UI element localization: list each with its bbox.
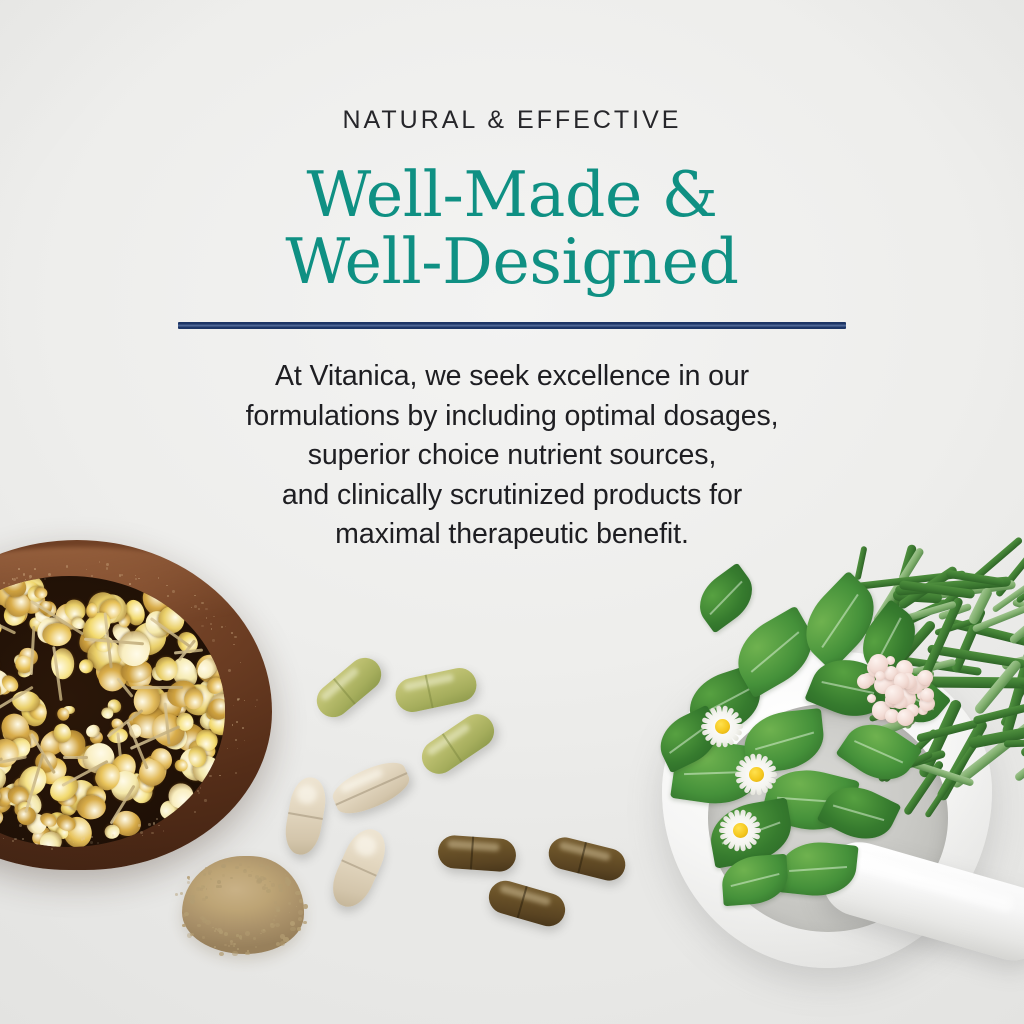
bowl-speckle	[255, 706, 256, 707]
body-paragraph: At Vitanica, we seek excellence in our f…	[0, 357, 1024, 555]
supplement-pills-image	[290, 665, 662, 955]
bowl-speckle	[194, 605, 197, 608]
powder-grain	[248, 874, 251, 877]
body-line: maximal therapeutic benefit.	[0, 515, 1024, 555]
brown-capsule	[485, 877, 569, 930]
bowl-speckle	[198, 792, 200, 794]
beige-tablet	[325, 823, 393, 913]
powder-grain	[203, 886, 204, 887]
bowl-speckle	[91, 575, 93, 577]
powder-grain	[280, 941, 285, 945]
brown-capsule	[545, 834, 628, 884]
powder-grain	[247, 866, 249, 868]
chamomile-floret	[158, 607, 184, 635]
green-capsule	[310, 651, 388, 724]
bowl-speckle	[140, 831, 143, 834]
powder-grain	[228, 858, 232, 861]
bowl-speckle	[51, 848, 54, 851]
bowl-speckle	[48, 573, 51, 576]
chamomile-stem	[63, 756, 88, 759]
body-line: superior choice nutrient sources,	[0, 436, 1024, 476]
bowl-speckle	[88, 832, 90, 834]
powder-grain	[271, 883, 275, 886]
bowl-speckle	[240, 662, 241, 663]
bowl-speckle	[91, 836, 93, 838]
bowl-speckle	[231, 632, 232, 633]
bowl-speckle	[237, 698, 240, 701]
beige-tablet	[328, 755, 415, 821]
powder-grain	[280, 934, 285, 939]
powder-grain	[214, 930, 216, 932]
bowl-speckle	[244, 700, 245, 701]
bowl-speckle	[153, 822, 155, 824]
powder-grain	[202, 898, 206, 902]
bowl-speckle	[212, 639, 215, 642]
bowl-speckle	[107, 835, 109, 837]
powder-grain	[275, 906, 279, 910]
bowl-speckle	[234, 636, 237, 639]
bowl-speckle	[201, 625, 203, 627]
bowl-speckle	[235, 739, 237, 741]
pink-floret	[885, 685, 903, 703]
ceramic-bowl	[0, 540, 272, 870]
bowl-speckle	[209, 775, 212, 778]
powder-grain	[218, 885, 222, 888]
chamomile-bowl-image	[0, 540, 272, 870]
daisy-center	[715, 719, 730, 734]
daisy-flower	[734, 752, 778, 796]
bowl-speckle	[233, 705, 234, 706]
powder-grain	[175, 893, 179, 896]
powder-grain	[219, 952, 224, 956]
powder-grain	[210, 878, 213, 880]
bowl-speckle	[36, 843, 37, 844]
bowl-speckle	[129, 583, 131, 585]
powder-grain	[247, 950, 248, 951]
bowl-speckle	[3, 838, 4, 839]
mortar-and-pestle-image	[648, 556, 1024, 1024]
powder-grain	[264, 878, 267, 880]
powder-grain	[187, 881, 190, 884]
pink-flower-cluster	[856, 648, 940, 728]
daisy-flower	[700, 704, 744, 748]
bowl-speckle	[201, 602, 204, 605]
powder-grain	[245, 952, 249, 956]
powder-grain	[279, 889, 283, 892]
bowl-speckle	[158, 825, 160, 827]
body-line: and clinically scrutinized products for	[0, 476, 1024, 516]
body-line: At Vitanica, we seek excellence in our	[0, 357, 1024, 397]
headline-line-1: Well-Made &	[307, 158, 718, 231]
green-capsule	[415, 708, 500, 781]
bowl-speckle	[12, 840, 14, 842]
chamomile-floret	[168, 782, 195, 810]
bowl-speckle	[204, 799, 206, 801]
pink-floret	[897, 709, 914, 726]
bowl-speckle	[106, 563, 109, 566]
bowl-speckle	[227, 748, 228, 749]
chamomile-floret	[103, 824, 121, 841]
headline-line-2: Well-Designed	[0, 230, 1024, 295]
beige-tablet	[281, 775, 329, 858]
daisy-center	[749, 767, 764, 782]
powder-grain	[230, 943, 232, 945]
bowl-speckle	[8, 583, 10, 585]
bowl-speckle	[235, 772, 237, 774]
eyebrow-text: NATURAL & EFFECTIVE	[0, 108, 1024, 133]
bowl-speckle	[32, 583, 34, 585]
powder-grain	[239, 856, 241, 857]
powder-grain	[215, 928, 217, 930]
bowl-speckle	[244, 740, 245, 741]
powder-grain	[233, 945, 235, 947]
powder-grain	[180, 892, 183, 895]
mint-leaf	[689, 563, 763, 634]
powder-grain	[189, 895, 195, 900]
powder-grain	[236, 934, 239, 936]
bowl-speckle	[194, 595, 195, 596]
bowl-speckle	[138, 824, 140, 826]
divider-rule	[178, 322, 846, 329]
bowl-speckle	[34, 568, 36, 570]
bowl-speckle	[211, 628, 213, 630]
bowl-speckle	[18, 568, 20, 570]
powder-grain	[190, 899, 195, 904]
bowl-speckle	[236, 721, 238, 723]
bowl-speckle	[151, 832, 154, 835]
chamomile-stem	[131, 686, 183, 689]
bowl-speckle	[219, 775, 221, 777]
pink-floret	[921, 688, 934, 701]
powder-grain	[235, 866, 238, 869]
powder-grain	[232, 951, 237, 956]
bowl-speckle	[228, 669, 231, 672]
bowl-speckle	[233, 644, 235, 646]
bowl-speckle	[163, 830, 165, 832]
bowl-speckle	[156, 818, 158, 820]
bowl-speckle	[39, 833, 42, 836]
bowl-speckle	[29, 578, 30, 579]
powder-grain	[206, 888, 208, 889]
bowl-speckle	[14, 838, 17, 841]
bowl-speckle	[68, 839, 70, 841]
pink-floret	[867, 694, 876, 703]
bowl-speckle	[142, 835, 144, 837]
pink-floret	[857, 674, 872, 689]
bowl-speckle	[135, 575, 136, 576]
bowl-speckle	[194, 811, 196, 813]
powder-grain	[239, 935, 243, 938]
daisy-flower	[718, 808, 762, 852]
powder-grain	[274, 901, 277, 903]
green-capsule	[392, 665, 479, 715]
bowl-speckle	[148, 823, 151, 826]
bowl-speckle	[167, 595, 169, 597]
promo-banner: NATURAL & EFFECTIVE Well-Made & Well-Des…	[0, 0, 1024, 1024]
bowl-speckle	[112, 834, 114, 836]
powder-grain	[278, 884, 284, 889]
bowl-speckle	[19, 824, 22, 827]
rosemary-needle	[1004, 738, 1024, 748]
bowl-speckle	[172, 590, 175, 593]
page-title: Well-Made & Well-Designed	[0, 163, 1024, 295]
pink-floret	[918, 670, 933, 685]
bowl-speckle	[22, 838, 24, 840]
bowl-speckle	[16, 577, 18, 579]
bowl-speckle	[232, 724, 233, 725]
bowl-speckle	[221, 626, 222, 627]
daisy-center	[733, 823, 748, 838]
body-line: formulations by including optimal dosage…	[0, 397, 1024, 437]
bowl-speckle	[242, 727, 244, 729]
bowl-speckle	[200, 787, 202, 789]
powder-grain	[233, 943, 235, 945]
powder-grain	[224, 932, 228, 936]
brown-capsule	[437, 834, 517, 872]
powder-grain	[266, 887, 268, 889]
bowl-speckle	[256, 699, 258, 701]
bowl-speckle	[237, 748, 238, 749]
powder-grain	[275, 923, 280, 927]
divider	[0, 322, 1024, 329]
bowl-speckle	[97, 842, 99, 844]
